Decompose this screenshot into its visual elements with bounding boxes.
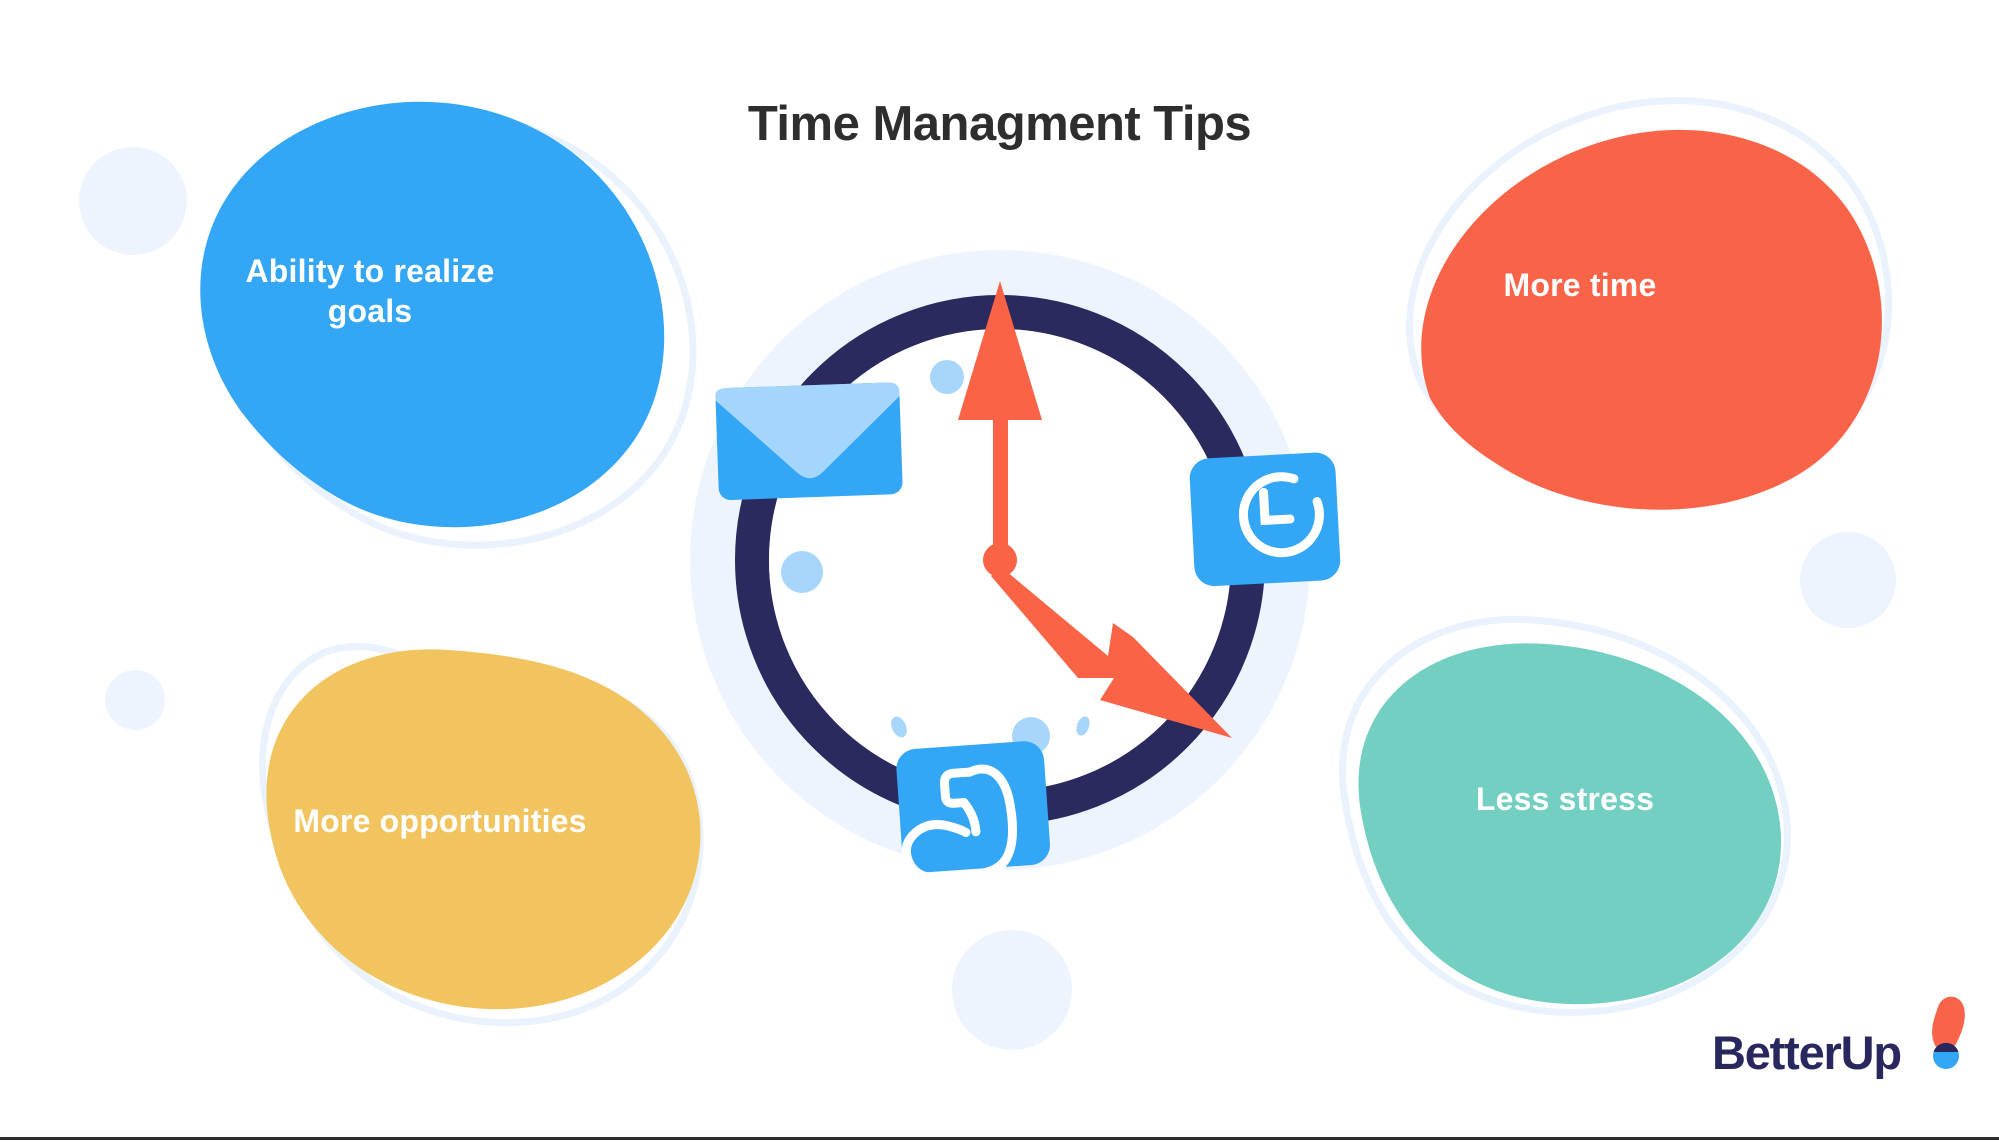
bottom-divider <box>0 1137 1999 1140</box>
icon-card-muscle[interactable] <box>895 740 1052 881</box>
blob-ability-to-realize-goals[interactable] <box>200 102 693 545</box>
icon-card-clock[interactable] <box>1189 452 1341 587</box>
blob-shape <box>1358 643 1781 1004</box>
betterup-wordmark: BetterUp <box>1712 1025 1901 1080</box>
clock-face-dot <box>781 551 823 593</box>
decorative-circle <box>105 670 165 730</box>
slide-canvas: Time Managment Tips Ability to realize g… <box>0 0 1999 1143</box>
icon-card-envelope[interactable] <box>715 382 903 500</box>
blob-shape <box>266 649 700 1009</box>
clock-pivot <box>983 543 1017 577</box>
decorative-circle <box>1800 532 1896 628</box>
betterup-mark <box>1912 993 1982 1083</box>
blob-more-time[interactable] <box>1410 101 1889 510</box>
clock-face-dot <box>930 360 964 394</box>
blob-more-opportunities[interactable] <box>263 646 701 1022</box>
artwork-layer <box>0 0 1999 1143</box>
decorative-circle <box>952 930 1072 1050</box>
blob-less-stress[interactable] <box>1342 619 1787 1012</box>
blob-shape <box>1421 130 1882 510</box>
betterup-logo[interactable]: BetterUp <box>1712 1001 1972 1101</box>
page-title: Time Managment Tips <box>0 96 1999 152</box>
decorative-circle <box>79 147 187 255</box>
muscle-card-body <box>895 740 1051 874</box>
